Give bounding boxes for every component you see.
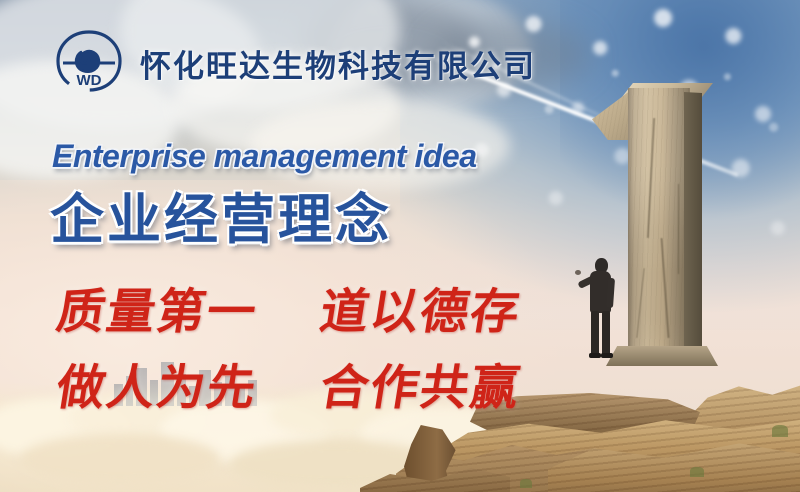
slogan-1-right: 道以德存 xyxy=(316,284,525,340)
english-headline: Enterprise management idea xyxy=(52,138,476,175)
grass-tuft xyxy=(772,425,788,437)
chinese-headline: 企业经营理念 xyxy=(50,175,392,254)
slogan-line-1: 质量第一 道以德存 xyxy=(52,272,527,342)
grass-tuft xyxy=(690,467,704,477)
monolith-crack xyxy=(678,184,679,274)
slogan-line-2: 做人为先 合作共赢 xyxy=(52,348,527,418)
company-logo-icon: WD xyxy=(52,26,126,100)
slogan-2-right: 合作共赢 xyxy=(316,360,525,416)
pointing-hand xyxy=(575,270,581,275)
company-header: WD 怀化旺达生物科技有限公司 xyxy=(52,26,536,100)
corporate-culture-banner: WD 怀化旺达生物科技有限公司 Enterprise management id… xyxy=(0,0,800,492)
slogan-1-left: 质量第一 xyxy=(53,284,262,340)
slogan-2-left: 做人为先 xyxy=(53,360,262,416)
company-name: 怀化旺达生物科技有限公司 xyxy=(140,41,536,86)
figure-lower-arm xyxy=(606,278,615,308)
svg-text:WD: WD xyxy=(77,72,102,89)
grass-tuft xyxy=(520,479,532,488)
